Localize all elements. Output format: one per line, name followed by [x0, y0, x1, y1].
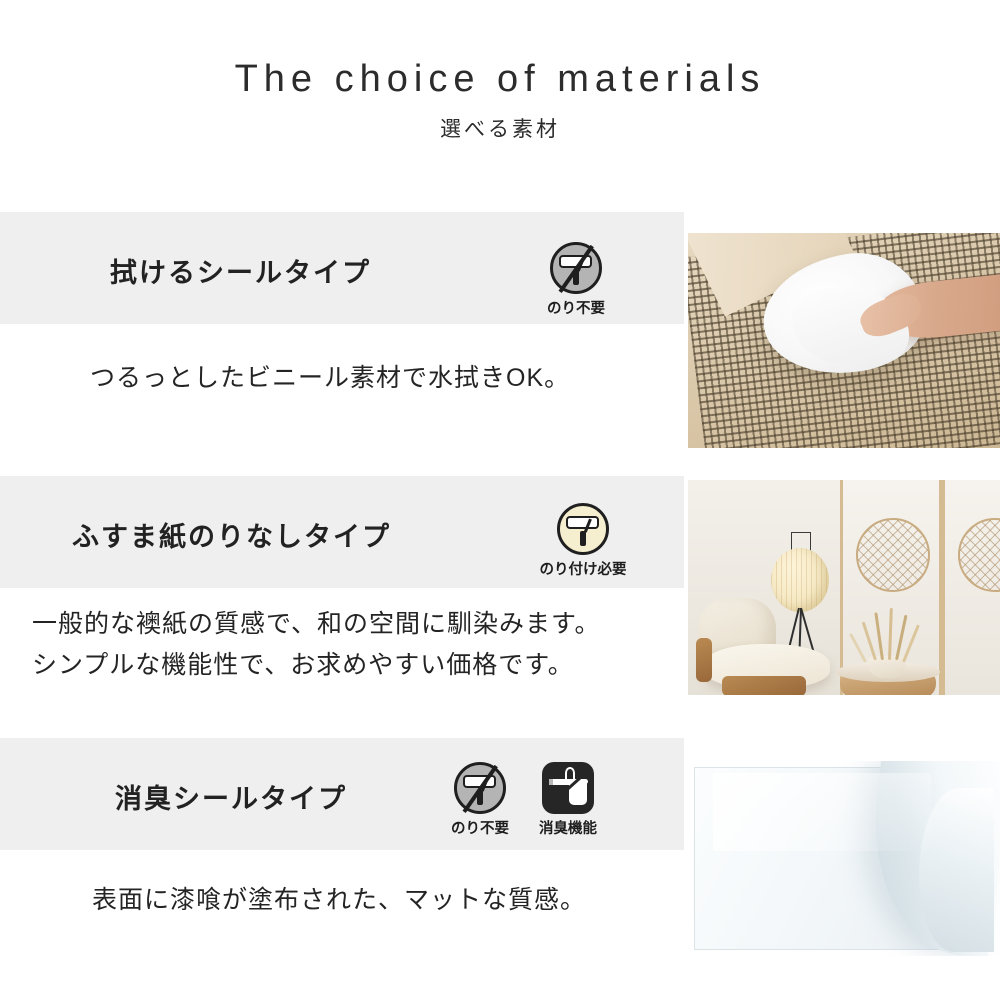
paint-roller-prohibited-icon: [454, 762, 506, 814]
paint-roller-prohibited-icon: [550, 242, 602, 294]
section-badges: のり不要: [540, 242, 612, 318]
description-line: 一般的な襖紙の質感で、和の空間に馴染みます。: [32, 604, 601, 645]
section-title: ふすま紙のりなしタイプ: [72, 515, 391, 554]
section-badges: のり付け必要: [522, 503, 644, 579]
section-badges: のり不要 消臭機能: [444, 762, 604, 838]
badge-no-glue: のり不要: [540, 242, 612, 318]
section-title: 消臭シールタイプ: [115, 777, 347, 816]
section-description: 表面に漆喰が塗布された、マットな質感。: [92, 880, 586, 921]
section-deodorizing-seal-type: 消臭シールタイプ のり不要: [0, 738, 1000, 968]
section-title: 拭けるシールタイプ: [110, 251, 371, 290]
badge-label: のり不要: [547, 297, 605, 318]
badge-label: のり不要: [451, 817, 509, 838]
badge-no-glue: のり不要: [444, 762, 516, 838]
page-title: The choice of materials: [235, 58, 766, 101]
description-line: 表面に漆喰が塗布された、マットな質感。: [92, 880, 586, 921]
page-subtitle: 選べる素材: [440, 113, 560, 143]
section-fusuma-paper-no-glue-type: ふすま紙のりなしタイプ のり付け必要 一般的な襖紙の質感で、和の空間に馴染みます…: [0, 476, 1000, 731]
japanese-interior-room-photo: [688, 480, 1000, 695]
page-header: The choice of materials 選べる素材: [0, 0, 1000, 195]
badge-glue-required: のり付け必要: [522, 503, 644, 579]
description-line: つるっとしたビニール素材で水拭きOK。: [90, 358, 570, 399]
white-curling-sheet-photo: [688, 761, 1000, 956]
description-line: シンプルな機能性で、お求めやすい価格です。: [32, 645, 601, 686]
section-description: 一般的な襖紙の質感で、和の空間に馴染みます。 シンプルな機能性で、お求めやすい価…: [32, 604, 601, 686]
paint-roller-icon: [557, 503, 609, 555]
section-wipeable-seal-type: 拭けるシールタイプ のり不要 つるっとしたビニール素材で水拭きOK。: [0, 212, 1000, 462]
deodorizing-function-icon: [542, 762, 594, 814]
badge-deodorizing: 消臭機能: [532, 762, 604, 838]
badge-label: のり付け必要: [540, 558, 627, 579]
badge-label: 消臭機能: [539, 817, 597, 838]
section-description: つるっとしたビニール素材で水拭きOK。: [90, 358, 570, 399]
materials-page: The choice of materials 選べる素材 拭けるシールタイプ …: [0, 0, 1000, 1000]
hand-wiping-woven-surface-photo: [688, 233, 1000, 448]
